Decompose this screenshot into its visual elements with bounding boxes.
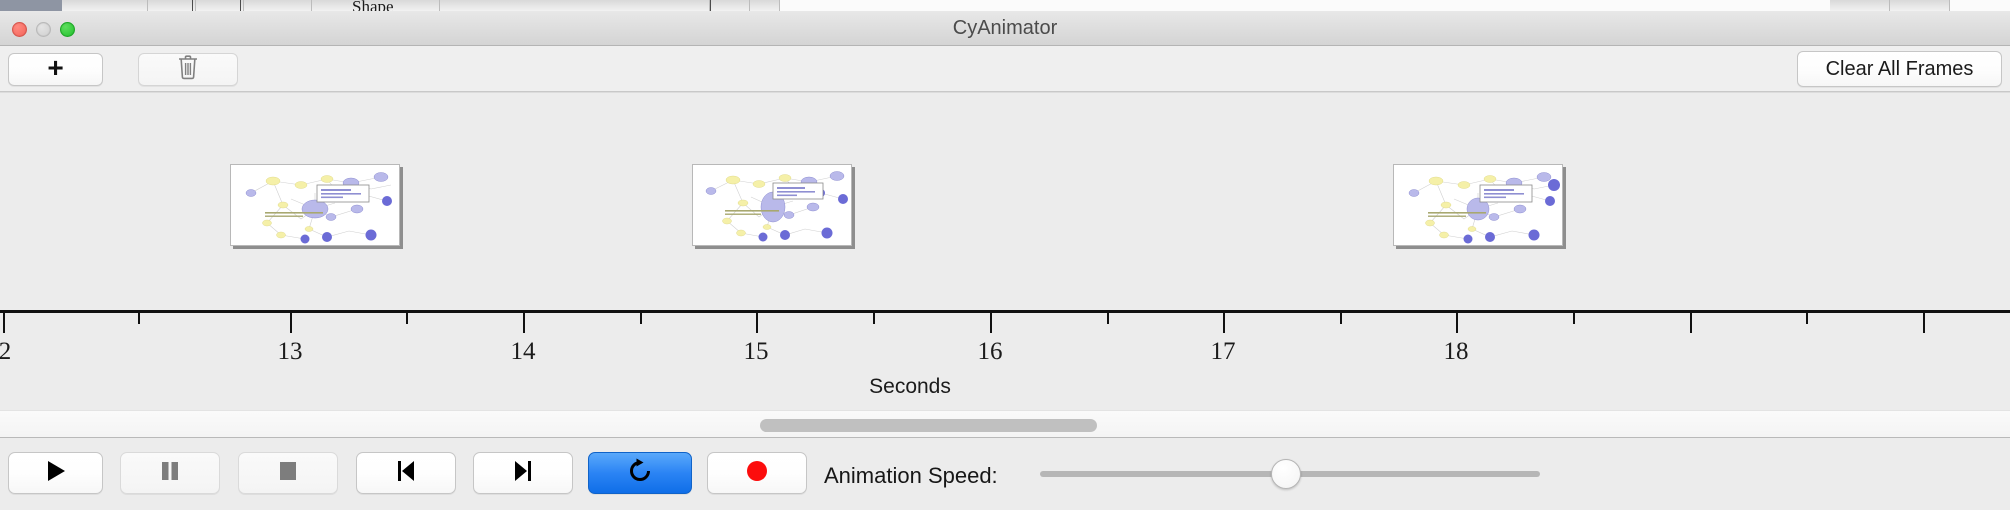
axis-tick-minor: [406, 313, 408, 324]
axis-tick-major: [1223, 313, 1225, 333]
axis-tick-minor: [138, 313, 140, 324]
axis-tick-major: [756, 313, 758, 333]
background-window-segment: [440, 0, 710, 11]
delete-frame-button[interactable]: [138, 53, 238, 86]
background-window-dark-segment: [0, 0, 62, 11]
axis-tick-major: [1690, 313, 1692, 333]
axis-tick-label: 16: [978, 338, 1003, 366]
frame-thumbnail[interactable]: [1393, 164, 1563, 246]
axis-tick-minor: [1340, 313, 1342, 324]
frame-thumbnail[interactable]: [230, 164, 400, 246]
background-window-segment: [196, 0, 244, 11]
cyanimator-window: Shape CyAnimator + Clear All: [0, 0, 2010, 510]
background-window-segment: [750, 0, 780, 11]
record-icon: [744, 458, 770, 489]
axis-tick-major: [3, 313, 5, 333]
background-window-segment: [710, 0, 750, 11]
window-title: CyAnimator: [0, 11, 2010, 46]
background-window-segment: [62, 0, 148, 11]
animation-speed-slider-thumb[interactable]: [1271, 459, 1301, 489]
titlebar: CyAnimator: [0, 11, 2010, 46]
plus-icon: +: [47, 54, 63, 82]
axis-tick-label: 17: [1211, 338, 1236, 366]
background-window-label: Shape: [352, 0, 394, 11]
play-icon: [44, 458, 68, 489]
background-window-segment: [1830, 0, 1890, 11]
frame-thumbnail[interactable]: [692, 164, 852, 246]
axis-tick-minor: [1806, 313, 1808, 324]
skip-to-start-button[interactable]: [356, 452, 456, 494]
background-window-sliver: Shape: [0, 0, 2010, 11]
toolbar: + Clear All Frames: [0, 46, 2010, 92]
skip-forward-icon: [511, 458, 535, 489]
axis-tick-minor: [640, 313, 642, 324]
traffic-light-group: [12, 22, 75, 37]
pause-button[interactable]: [120, 452, 220, 494]
axis-tick-major: [523, 313, 525, 333]
animation-speed-label: Animation Speed:: [824, 463, 998, 489]
axis-tick-label: 2: [0, 338, 11, 366]
timeline-axis-line: [0, 310, 2010, 313]
clear-all-frames-button[interactable]: Clear All Frames: [1797, 51, 2002, 87]
trash-icon: [177, 54, 199, 85]
loop-button[interactable]: [588, 452, 692, 494]
scrollbar-thumb[interactable]: [760, 419, 1097, 432]
play-button[interactable]: [8, 452, 103, 494]
axis-tick-major: [290, 313, 292, 333]
record-button[interactable]: [707, 452, 807, 494]
background-window-segment: [244, 0, 312, 11]
axis-tick-major: [1923, 313, 1925, 333]
axis-tick-minor: [1107, 313, 1109, 324]
clear-all-frames-label: Clear All Frames: [1826, 58, 1974, 81]
axis-tick-label: 15: [744, 338, 769, 366]
stop-icon: [276, 458, 300, 489]
loop-icon: [626, 457, 654, 490]
axis-tick-label: 18: [1444, 338, 1469, 366]
maximize-button[interactable]: [60, 22, 75, 37]
background-window-segment: [148, 0, 196, 11]
axis-title: Seconds: [869, 375, 951, 399]
background-window-segment: [1890, 0, 1950, 11]
minimize-button[interactable]: [36, 22, 51, 37]
axis-tick-major: [990, 313, 992, 333]
add-frame-button[interactable]: +: [8, 53, 103, 86]
timeline-scrollbar[interactable]: [0, 410, 2010, 438]
pause-icon: [158, 458, 182, 489]
timeline-panel[interactable]: 2 13 14 15 16 17 18 Seconds: [0, 92, 2010, 410]
axis-tick-minor: [873, 313, 875, 324]
axis-tick-minor: [1573, 313, 1575, 324]
skip-backward-icon: [394, 458, 418, 489]
axis-tick-label: 13: [278, 338, 303, 366]
playback-control-bar: Animation Speed:: [0, 438, 2010, 510]
close-button[interactable]: [12, 22, 27, 37]
axis-tick-major: [1456, 313, 1458, 333]
skip-to-end-button[interactable]: [473, 452, 573, 494]
axis-tick-label: 14: [511, 338, 536, 366]
stop-button[interactable]: [238, 452, 338, 494]
